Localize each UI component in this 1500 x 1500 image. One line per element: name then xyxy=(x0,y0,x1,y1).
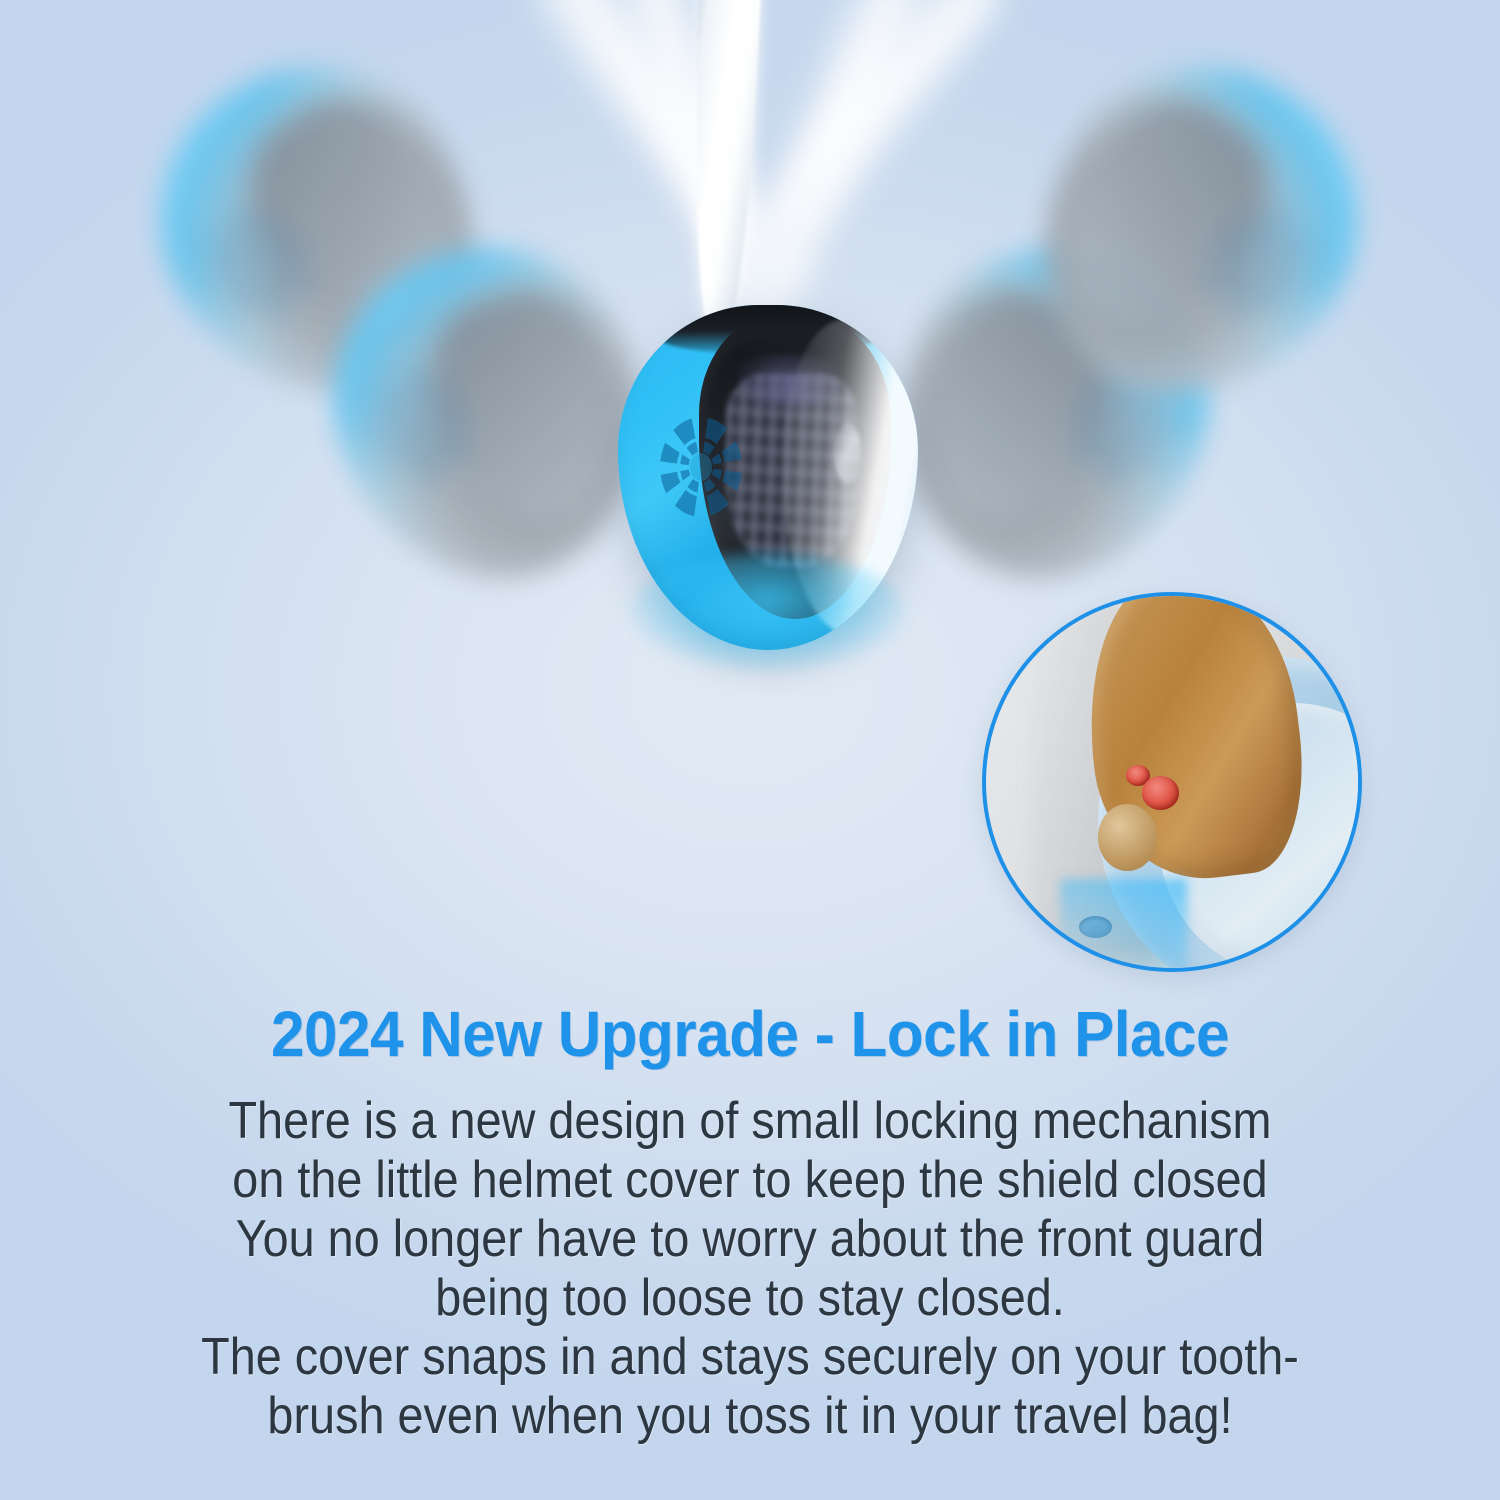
body-line-3: You no longer have to worry about the fr… xyxy=(75,1210,1425,1269)
body-line-2: on the little helmet cover to keep the s… xyxy=(75,1151,1425,1210)
body-copy: There is a new design of small locking m… xyxy=(75,1092,1425,1446)
body-line-1: There is a new design of small locking m… xyxy=(75,1092,1425,1151)
body-line-4: being too loose to stay closed. xyxy=(75,1269,1425,1328)
vent-rosette-icon xyxy=(660,417,742,517)
lock-nub-large xyxy=(1142,776,1179,809)
body-line-5: The cover snaps in and stays securely on… xyxy=(75,1328,1425,1387)
brush-head-with-cover xyxy=(618,305,918,650)
marketing-copy: 2024 New Upgrade - Lock in Place There i… xyxy=(0,1002,1500,1446)
body-line-6: brush even when you toss it in your trav… xyxy=(75,1387,1425,1446)
helmet-bottom-glow xyxy=(630,553,906,670)
product-feature-image: 2024 New Upgrade - Lock in Place There i… xyxy=(0,0,1500,1500)
product-photo xyxy=(0,0,1500,1000)
inset-edge-glow xyxy=(1060,879,1186,972)
headline: 2024 New Upgrade - Lock in Place xyxy=(45,1002,1455,1066)
locking-clip-tip xyxy=(1098,804,1158,871)
lock-mechanism-closeup-inset xyxy=(982,592,1362,972)
